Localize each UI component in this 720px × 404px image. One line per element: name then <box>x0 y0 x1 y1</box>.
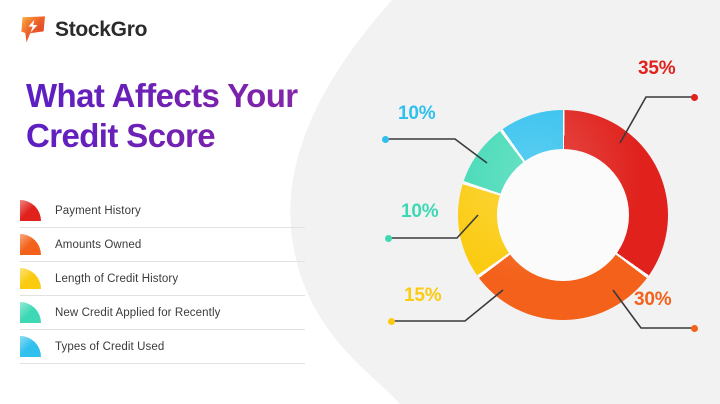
leader-dot-15 <box>388 318 395 325</box>
callout-30: 30% <box>634 289 671 311</box>
leader-line-10-cyan <box>385 139 487 163</box>
donut-chart: 35% 30% 15% 10% 10% <box>0 0 720 404</box>
callout-10-cyan: 10% <box>398 103 435 125</box>
leader-dot-10-cyan <box>382 136 389 143</box>
leader-lines <box>0 0 720 404</box>
leader-dot-35 <box>691 94 698 101</box>
leader-dot-10-teal <box>385 235 392 242</box>
callout-10-teal: 10% <box>401 201 438 223</box>
leader-line-35 <box>620 97 694 143</box>
callout-15: 15% <box>404 285 441 307</box>
callout-35: 35% <box>638 58 675 80</box>
infographic-canvas: StockGro What Affects Your Credit Score … <box>0 0 720 404</box>
leader-dot-30 <box>691 325 698 332</box>
